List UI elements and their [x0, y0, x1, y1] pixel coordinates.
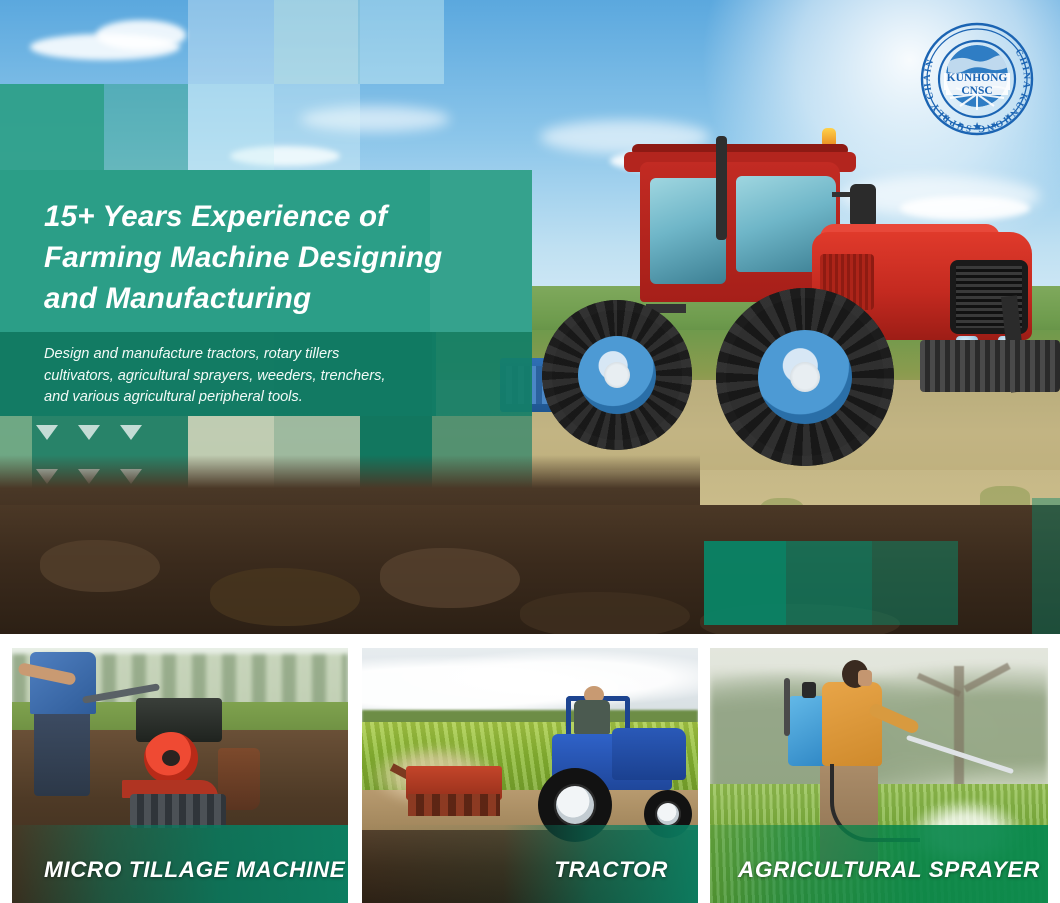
hero-tractor-illustration [520, 128, 1040, 468]
decor-block [1032, 498, 1060, 634]
tiller-blade-bars [408, 794, 500, 816]
page-subtitle: Design and manufacture tractors, rotary … [44, 344, 464, 409]
product-card-row: MICRO TILLAGE MACHINE [0, 648, 1060, 903]
micro-tiller-machine [90, 676, 280, 816]
rotary-tiller-implement [390, 766, 508, 822]
headline-line-2: Farming Machine Designing [44, 237, 524, 278]
card-label-agricultural-sprayer: AGRICULTURAL SPRAYER [738, 857, 1040, 883]
tractor-mirror [850, 184, 876, 228]
product-card-agricultural-sprayer[interactable]: AGRICULTURAL SPRAYER [710, 648, 1048, 903]
subtitle-line-1: Design and manufacture tractors, rotary … [44, 344, 464, 366]
driver-torso [574, 700, 610, 734]
operator-shirt [822, 682, 882, 766]
sprayer-pump-lever [784, 678, 790, 736]
operator-trousers [34, 710, 90, 796]
soil-clod [210, 568, 360, 626]
decor-block [188, 84, 274, 170]
tractor-exhaust-pipe [716, 136, 727, 240]
tractor-front-weight [920, 340, 1060, 392]
soil-clod [380, 548, 520, 608]
product-card-micro-tillage-machine[interactable]: MICRO TILLAGE MACHINE [12, 648, 348, 903]
hero-section: 15+ Years Experience of Farming Machine … [0, 0, 1060, 634]
headline-line-1: 15+ Years Experience of [44, 196, 524, 237]
cloud [96, 20, 186, 50]
triangle-down-icon [120, 425, 142, 440]
decor-block [104, 84, 188, 170]
card-label-tractor: TRACTOR [554, 857, 668, 883]
product-card-tractor[interactable]: TRACTOR [362, 648, 698, 903]
tractor-front-hub [657, 803, 679, 825]
card-label-micro-tillage-machine: MICRO TILLAGE MACHINE [44, 857, 345, 883]
tiller-rotary-blades [130, 794, 226, 828]
decor-block [274, 0, 360, 170]
decor-block [704, 541, 786, 625]
triangle-down-icon [36, 425, 58, 440]
triangle-down-icon [78, 425, 100, 440]
blue-tractor [492, 686, 698, 836]
logo-center-line2: CNSC [961, 85, 992, 97]
tractor-rear-hub-center [604, 362, 630, 388]
promo-banner: 15+ Years Experience of Farming Machine … [0, 0, 1060, 903]
headline-line-3: and Manufacturing [44, 278, 524, 319]
tractor-hood [612, 728, 686, 780]
soil-clod [40, 540, 160, 592]
decor-block [360, 0, 444, 84]
page-title: 15+ Years Experience of Farming Machine … [44, 196, 524, 319]
decor-block [786, 541, 872, 625]
company-logo: KUNHONG CNSC ★ ★ ★ ★ ★ CHINA KUNHONG SUP… [916, 18, 1038, 140]
tractor-side-window [650, 178, 726, 284]
logo-center-line1: KUNHONG [947, 72, 1008, 84]
operator-face [858, 670, 872, 686]
soil-clod [520, 592, 690, 634]
tractor-rear-hub [556, 786, 594, 824]
tiller-flywheel-center [162, 750, 180, 766]
decor-block [872, 541, 958, 625]
company-seal-icon: KUNHONG CNSC ★ ★ ★ ★ ★ CHINA KUNHONG SUP… [916, 18, 1038, 140]
subtitle-line-3: and various agricultural peripheral tool… [44, 387, 464, 409]
tree-trunk [954, 666, 964, 790]
sprayer-tank-cap [802, 682, 816, 698]
tractor-front-hub-center [790, 362, 820, 392]
decor-block [0, 84, 104, 170]
subtitle-line-2: cultivators, agricultural sprayers, weed… [44, 366, 464, 388]
